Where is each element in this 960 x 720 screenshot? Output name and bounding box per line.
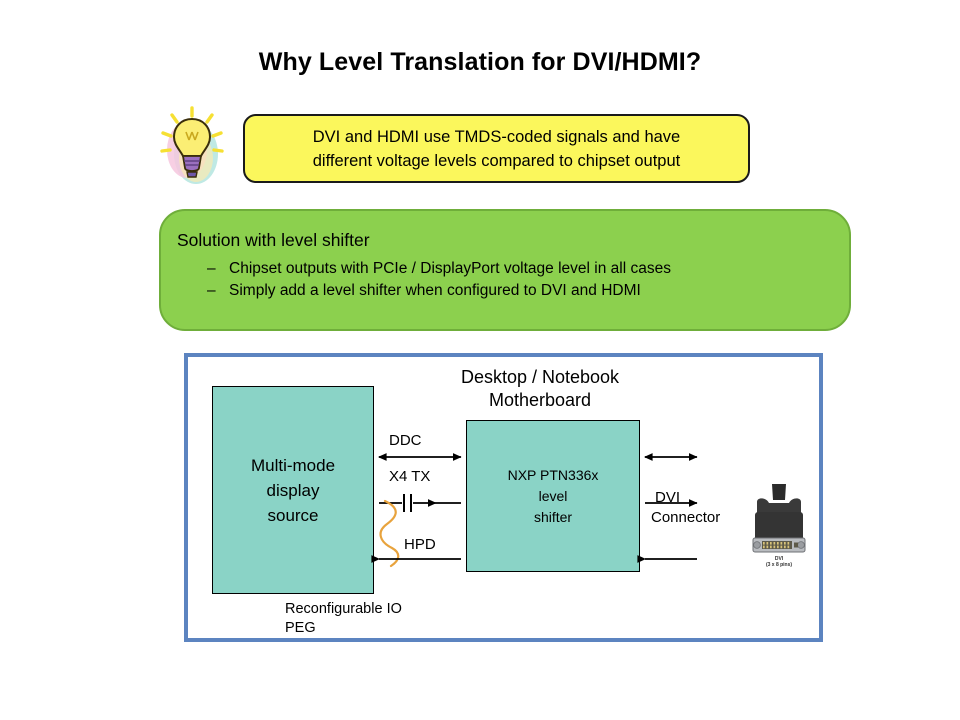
source-caption-line-1: Reconfigurable IO: [285, 600, 402, 619]
shifter-block-line-3: shifter: [534, 507, 572, 528]
callout-box: DVI and HDMI use TMDS-coded signals and …: [243, 114, 750, 183]
source-block-line-2: display: [267, 478, 320, 503]
motherboard-heading: Desktop / Notebook Motherboard: [400, 366, 680, 412]
shifter-block-line-1: NXP PTN336x: [508, 465, 599, 486]
signal-label-ddc: DDC: [389, 432, 422, 450]
shifter-block-line-2: level: [539, 486, 568, 507]
source-block: Multi-mode display source: [212, 386, 374, 594]
solution-heading: Solution with level shifter: [177, 229, 849, 252]
dvi-connector-caption: DVI (3 x 8 pins): [742, 556, 816, 568]
callout-line-1: DVI and HDMI use TMDS-coded signals and …: [313, 125, 680, 149]
signal-label-dvi-connector-line-1: DVI: [655, 489, 680, 507]
signal-label-x4tx: X4 TX: [389, 468, 430, 486]
motherboard-heading-line-2: Motherboard: [400, 389, 680, 412]
bullet-marker: –: [207, 280, 229, 302]
bullet-text: Chipset outputs with PCIe / DisplayPort …: [229, 258, 671, 280]
bullet-text: Simply add a level shifter when configur…: [229, 280, 641, 302]
dvi-connector-caption-line-2: (3 x 8 pins): [742, 562, 816, 568]
source-caption: Reconfigurable IO PEG: [285, 600, 402, 638]
callout-line-2: different voltage levels compared to chi…: [313, 149, 681, 173]
dvi-connector-image: DVI (3 x 8 pins): [742, 484, 816, 576]
bullet-marker: –: [207, 258, 229, 280]
list-item: – Simply add a level shifter when config…: [207, 280, 849, 302]
source-block-line-3: source: [267, 503, 318, 528]
motherboard-heading-line-1: Desktop / Notebook: [400, 366, 680, 389]
signal-label-hpd: HPD: [404, 536, 436, 554]
list-item: – Chipset outputs with PCIe / DisplayPor…: [207, 258, 849, 280]
solution-bullet-list: – Chipset outputs with PCIe / DisplayPor…: [175, 258, 849, 302]
signal-label-dvi-connector-line-2: Connector: [651, 509, 720, 527]
source-block-line-1: Multi-mode: [251, 453, 335, 478]
solution-box: Solution with level shifter – Chipset ou…: [159, 209, 851, 331]
source-caption-line-2: PEG: [285, 619, 402, 638]
page-title: Why Level Translation for DVI/HDMI?: [0, 48, 960, 77]
lightbulb-icon: [156, 106, 230, 192]
level-shifter-block: NXP PTN336x level shifter: [466, 420, 640, 572]
